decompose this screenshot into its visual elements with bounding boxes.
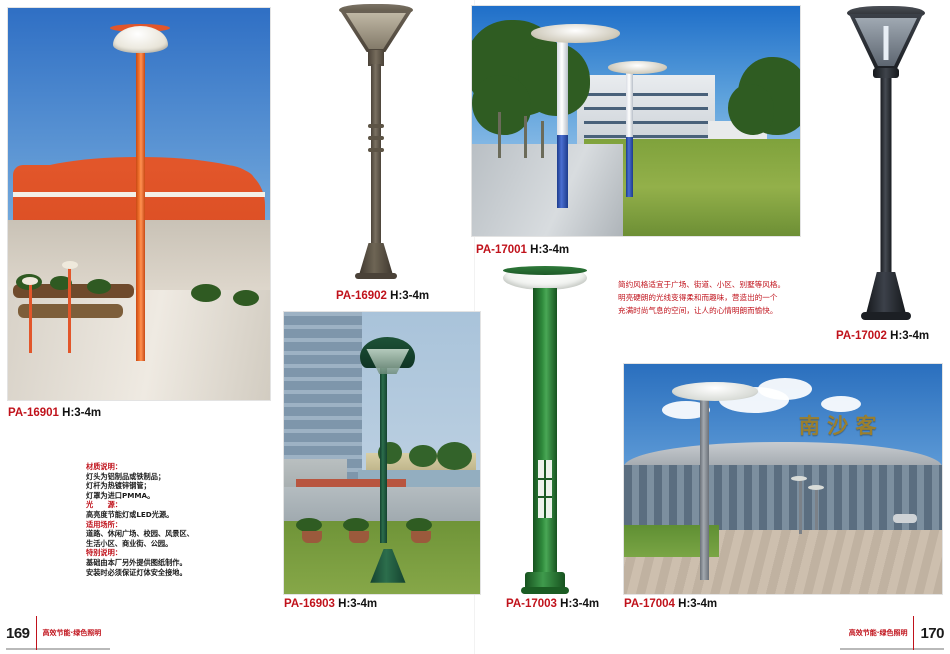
lamp-collar (873, 68, 899, 78)
product-height: H:3-4m (560, 598, 599, 610)
lamp-base (866, 272, 906, 314)
material-line-3: 灯罩为进口PMMA。 (86, 491, 276, 501)
footer-right: 高效节能·绿色照明 170 (849, 620, 944, 646)
page-number-left: 169 (6, 625, 30, 642)
window-mullion-horizontal (538, 496, 552, 498)
flower-pot (411, 531, 431, 543)
lamp-pole (136, 39, 145, 360)
product-photo-pa-17001 (472, 6, 800, 236)
lamp-foot (355, 273, 397, 279)
pole-ring (368, 136, 384, 140)
tree-trunk (498, 112, 501, 158)
background-lamp-head (791, 476, 807, 481)
lamp-disc-dome (672, 382, 758, 400)
building-window-row (584, 121, 709, 124)
product-photo-pa-16901 (8, 8, 270, 400)
product-cutout-pa-17002 (838, 2, 934, 320)
lamp-pole (371, 64, 381, 244)
lamp-pole (700, 392, 709, 581)
lamp-foot (861, 312, 911, 320)
material-line-1: 灯头为铝制品或铁制品； (86, 472, 276, 482)
description-line-2: 明亮硬朗的光线变得柔和而趣味，营造出的一个 (618, 291, 826, 304)
product-label-pa-16903: PA-16903 H:3-4m (284, 598, 377, 610)
glass-tower (284, 312, 362, 481)
description-line-1: 简约风格适宜于广场、街道、小区、别墅等风格。 (618, 278, 826, 291)
lamp-diffuser-near (557, 34, 568, 135)
lamp-pole (533, 288, 557, 574)
cloud (758, 378, 812, 400)
product-code: PA-17003 (506, 598, 557, 610)
building-window-row (584, 107, 709, 110)
product-code: PA-16901 (8, 407, 59, 419)
product-label-pa-17004: PA-17004 H:3-4m (624, 598, 717, 610)
product-photo-pa-17004: 南 沙 客 (624, 364, 942, 594)
specification-block: 材质说明： 灯头为铝制品或铁制品； 灯杆为热镀锌钢管； 灯罩为进口PMMA。 光… (86, 462, 276, 577)
footer-rule-right (840, 648, 944, 650)
product-label-pa-16902: PA-16902 H:3-4m (336, 290, 429, 302)
usage-line-1: 道路、休闲广场、校园、风景区、 (86, 529, 276, 539)
background-lamp-pole (815, 488, 818, 529)
description-line-3: 充满时尚气息的空间，让人的心情明朗而愉快。 (618, 304, 826, 317)
usage-line-2: 生活小区、商业街、公园。 (86, 539, 276, 549)
product-height: H:3-4m (530, 244, 569, 256)
lamp-base (359, 243, 393, 275)
special-note-line-2: 安装时必须保证灯体安全接地。 (86, 568, 276, 578)
material-heading: 材质说明： (86, 462, 276, 472)
style-description: 简约风格适宜于广场、街道、小区、别墅等风格。 明亮硬朗的光线变得柔和而趣味，营造… (618, 278, 826, 317)
background-lamp-pole (68, 267, 71, 353)
tree (728, 84, 774, 135)
product-height: H:3-4m (62, 407, 101, 419)
product-height: H:3-4m (890, 330, 929, 342)
background-lamp-pole (29, 282, 32, 353)
lamp-pole (881, 78, 892, 274)
building-window-row (584, 135, 709, 138)
product-cutout-pa-17003 (496, 262, 594, 594)
product-code: PA-17001 (476, 244, 527, 256)
pole-ring (368, 124, 384, 128)
flower-pot (302, 531, 322, 543)
shrub (87, 279, 111, 294)
tree (409, 445, 436, 468)
catalog-spread: PA-16901 H:3-4m PA-16902 H:3-4m (0, 0, 950, 654)
parked-car (893, 514, 917, 523)
footer-slogan-right: 高效节能·绿色照明 (849, 628, 908, 638)
product-label-pa-17001: PA-17001 H:3-4m (476, 244, 569, 256)
potted-plant (406, 518, 432, 532)
footer-divider (913, 616, 914, 650)
product-code: PA-16902 (336, 290, 387, 302)
light-source-line-1: 高亮度节能灯或LED光源。 (86, 510, 276, 520)
lamp-pole (380, 357, 387, 543)
lamp-diffuser-far (626, 68, 633, 137)
tree (437, 442, 472, 470)
flower-pot (349, 531, 369, 543)
lamp-bulb (884, 26, 889, 60)
potted-plant (343, 518, 369, 532)
terminal-glass-facade (624, 465, 942, 534)
lamp-disc-near (531, 24, 620, 42)
product-cutout-pa-16902 (330, 4, 422, 279)
product-code: PA-17004 (624, 598, 675, 610)
building-sign-text: 南 沙 客 (799, 410, 877, 440)
potted-plant (296, 518, 322, 532)
lamp-disc-rim (503, 266, 587, 275)
product-label-pa-17002: PA-17002 H:3-4m (836, 330, 929, 342)
product-label-pa-17003: PA-17003 H:3-4m (506, 598, 599, 610)
product-height: H:3-4m (678, 598, 717, 610)
building-window-row (584, 93, 709, 96)
background-lamp-head (808, 485, 824, 490)
footer-divider (36, 616, 37, 650)
product-photo-pa-16903 (284, 312, 480, 594)
shrub (233, 290, 259, 306)
footer-slogan-left: 高效节能·绿色照明 (43, 628, 102, 638)
lamp-disc-far (608, 61, 667, 74)
background-lamp-head (22, 277, 38, 285)
light-source-heading: 光 源： (86, 500, 276, 510)
tree (472, 75, 531, 135)
tree-trunk (541, 121, 544, 158)
tree-trunk (524, 116, 527, 157)
window-mullion-vertical (544, 460, 546, 518)
footer-left: 169 高效节能·绿色照明 (6, 620, 101, 646)
pole-ring (368, 148, 384, 152)
special-note-heading: 特别说明： (86, 548, 276, 558)
flower-bed (296, 479, 406, 487)
background-lamp-pole (799, 479, 802, 534)
product-code: PA-16903 (284, 598, 335, 610)
product-height: H:3-4m (338, 598, 377, 610)
page-number-right: 170 (920, 625, 944, 642)
lamp-foot (521, 587, 569, 594)
usage-heading: 适用场所： (86, 520, 276, 530)
material-line-2: 灯杆为热镀锌钢管； (86, 481, 276, 491)
window-mullion-horizontal (538, 478, 552, 480)
road (472, 144, 623, 236)
product-label-pa-16901: PA-16901 H:3-4m (8, 407, 101, 419)
product-code: PA-17002 (836, 330, 887, 342)
product-height: H:3-4m (390, 290, 429, 302)
special-note-line-1: 基础由本厂另外提供图纸制作。 (86, 558, 276, 568)
background-lamp-head (62, 261, 78, 269)
footer-rule-left (6, 648, 110, 650)
